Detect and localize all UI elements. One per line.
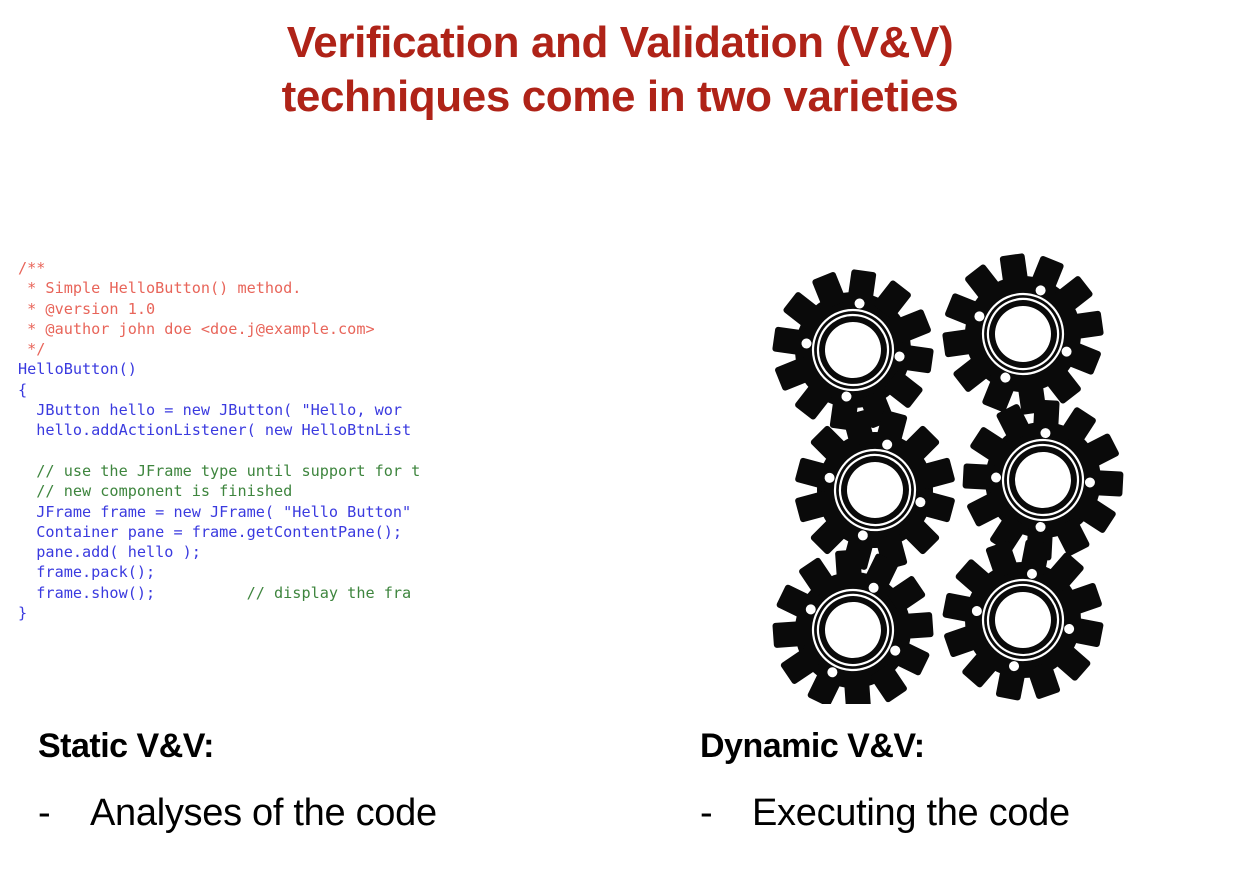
code-line: // use the JFrame type until support for… — [18, 461, 490, 481]
code-line: * @author john doe <doe.j@example.com> — [18, 319, 490, 339]
code-line: // new component is finished — [18, 481, 490, 501]
code-line: * Simple HelloButton() method. — [18, 278, 490, 298]
code-line: HelloButton() — [18, 359, 490, 379]
dynamic-bullet-marker: - — [700, 790, 752, 836]
code-listing: /** * Simple HelloButton() method. * @ve… — [18, 258, 490, 654]
code-line: frame.pack(); — [18, 562, 490, 582]
code-line: */ — [18, 339, 490, 359]
code-line: JButton hello = new JButton( "Hello, wor — [18, 400, 490, 420]
page-title-line-1: Verification and Validation (V&V) — [0, 16, 1240, 70]
dynamic-vv-bullet: -Executing the code — [700, 790, 1070, 836]
code-line: hello.addActionListener( new HelloBtnLis… — [18, 420, 490, 440]
static-vv-heading: Static V&V: — [38, 726, 214, 766]
code-line: * @version 1.0 — [18, 299, 490, 319]
static-bullet-marker: - — [38, 790, 90, 836]
page-title: Verification and Validation (V&V) techni… — [0, 16, 1240, 124]
code-line-text: frame.show(); — [18, 584, 155, 602]
code-line-comment: // display the fra — [247, 584, 412, 602]
page-title-line-2: techniques come in two varieties — [0, 70, 1240, 124]
static-bullet-text: Analyses of the code — [90, 792, 437, 834]
dynamic-vv-heading: Dynamic V&V: — [700, 726, 925, 766]
code-line: /** — [18, 258, 490, 278]
code-line: Container pane = frame.getContentPane(); — [18, 522, 490, 542]
gear-bottom-right — [929, 526, 1117, 704]
static-vv-bullet: -Analyses of the code — [38, 790, 437, 836]
code-line: pane.add( hello ); — [18, 542, 490, 562]
gears-illustration — [745, 252, 1175, 704]
code-line: } — [18, 603, 490, 623]
dynamic-bullet-text: Executing the code — [752, 792, 1070, 834]
gear-middle-right — [959, 396, 1127, 564]
code-line: frame.show(); // display the fra — [18, 583, 490, 603]
gear-top-right — [919, 252, 1127, 438]
code-line: JFrame frame = new JFrame( "Hello Button… — [18, 502, 490, 522]
code-line — [18, 441, 490, 461]
code-line-gap — [155, 584, 246, 602]
code-line: { — [18, 380, 490, 400]
